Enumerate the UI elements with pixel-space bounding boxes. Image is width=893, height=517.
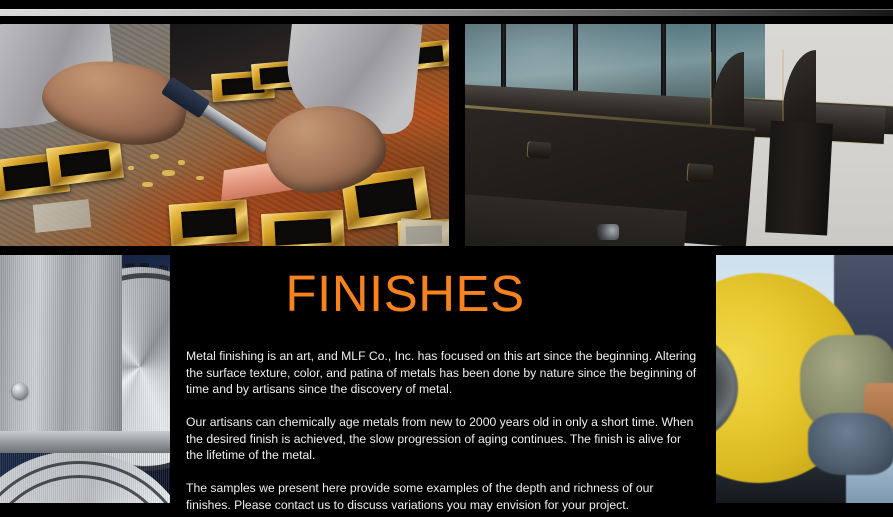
body-paragraph-1: Metal finishing is an art, and MLF Co., … xyxy=(186,348,698,398)
photo-bronze-lantern xyxy=(465,24,893,246)
content-block: FINISHES Metal finishing is an art, and … xyxy=(180,252,710,512)
top-black-strip xyxy=(0,0,893,9)
stainless-plate xyxy=(0,255,122,439)
gold-flake xyxy=(128,166,134,170)
work-glove-lower xyxy=(808,413,893,475)
gold-flake xyxy=(150,154,159,159)
body-paragraph-2: Our artisans can chemically age metals f… xyxy=(186,414,698,464)
masking-tape xyxy=(399,218,449,246)
stainless-cross-bar xyxy=(0,431,170,453)
page-title: FINISHES xyxy=(180,268,630,319)
bronze-knob-fastener xyxy=(597,224,619,240)
bronze-backplate xyxy=(765,120,833,235)
photo-brushed-stainless xyxy=(0,255,170,503)
bronze-standoff xyxy=(526,141,551,159)
photo-polishing-wheel xyxy=(716,255,893,503)
gilded-letter xyxy=(169,199,250,246)
gold-flake xyxy=(162,170,175,176)
masking-tape xyxy=(33,199,92,233)
machine-screw xyxy=(12,383,28,399)
top-gradient-rule xyxy=(0,9,893,16)
gold-flake xyxy=(142,182,153,187)
bronze-standoff xyxy=(686,163,713,183)
gilded-letter xyxy=(261,210,345,246)
photo-goldleaf-artisan xyxy=(0,24,449,246)
gold-flake xyxy=(196,176,204,180)
finishes-page: FINISHES Metal finishing is an art, and … xyxy=(0,0,893,517)
gold-flake xyxy=(178,160,185,165)
body-paragraph-3: The samples we present here provide some… xyxy=(186,480,698,513)
top-gap-strip xyxy=(0,16,893,24)
